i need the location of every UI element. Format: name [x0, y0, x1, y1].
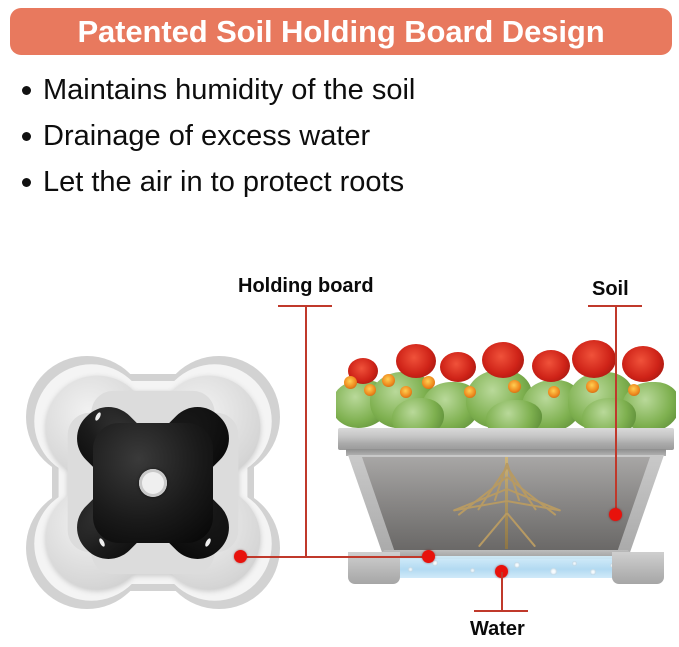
bullet-dot-icon [22, 132, 31, 141]
flower [532, 350, 570, 382]
feature-list: Maintains humidity of the soil Drainage … [22, 72, 542, 210]
marker-soil [609, 508, 622, 521]
bullet-dot-icon [22, 178, 31, 187]
flower [622, 346, 664, 382]
accent-flower [586, 380, 599, 393]
holding-board-top-view [8, 356, 298, 609]
soil-leader-stem [615, 305, 617, 513]
planter-rim [338, 428, 674, 450]
drainage-hole-icon [139, 469, 167, 497]
soil-fill [362, 457, 650, 557]
water-leader-stem [501, 572, 503, 610]
flower [440, 352, 476, 382]
callout-label-soil: Soil [592, 278, 629, 301]
accent-flower [382, 374, 395, 387]
feature-text: Maintains humidity of the soil [43, 72, 415, 108]
accent-flower [628, 384, 640, 396]
list-item: Drainage of excess water [22, 118, 542, 164]
flower [482, 342, 524, 378]
marker-holding-board-left [234, 550, 247, 563]
feature-text: Drainage of excess water [43, 118, 370, 154]
page-title: Patented Soil Holding Board Design [77, 16, 604, 47]
flower [572, 340, 616, 378]
water-leader-bar [474, 610, 528, 612]
marker-holding-board-right [422, 550, 435, 563]
planter-foot-right [612, 552, 664, 584]
accent-flower [344, 376, 357, 389]
callout-label-water: Water [470, 618, 525, 641]
callout-label-holding-board: Holding board [238, 275, 374, 298]
holding-board-leader-branch [240, 556, 428, 558]
accent-flower [400, 386, 412, 398]
holding-board-leader-stem [305, 305, 307, 557]
list-item: Let the air in to protect roots [22, 164, 542, 210]
accent-flower [464, 386, 476, 398]
list-item: Maintains humidity of the soil [22, 72, 542, 118]
feature-text: Let the air in to protect roots [43, 164, 404, 200]
infographic-canvas: Patented Soil Holding Board Design Maint… [0, 0, 679, 647]
accent-flower [364, 384, 376, 396]
soil-holding-board [60, 390, 246, 576]
accent-flower [548, 386, 560, 398]
plant-foliage [336, 336, 676, 434]
accent-flower [508, 380, 521, 393]
flower [396, 344, 436, 378]
accent-flower [422, 376, 435, 389]
bullet-dot-icon [22, 86, 31, 95]
header-banner: Patented Soil Holding Board Design [10, 8, 672, 55]
